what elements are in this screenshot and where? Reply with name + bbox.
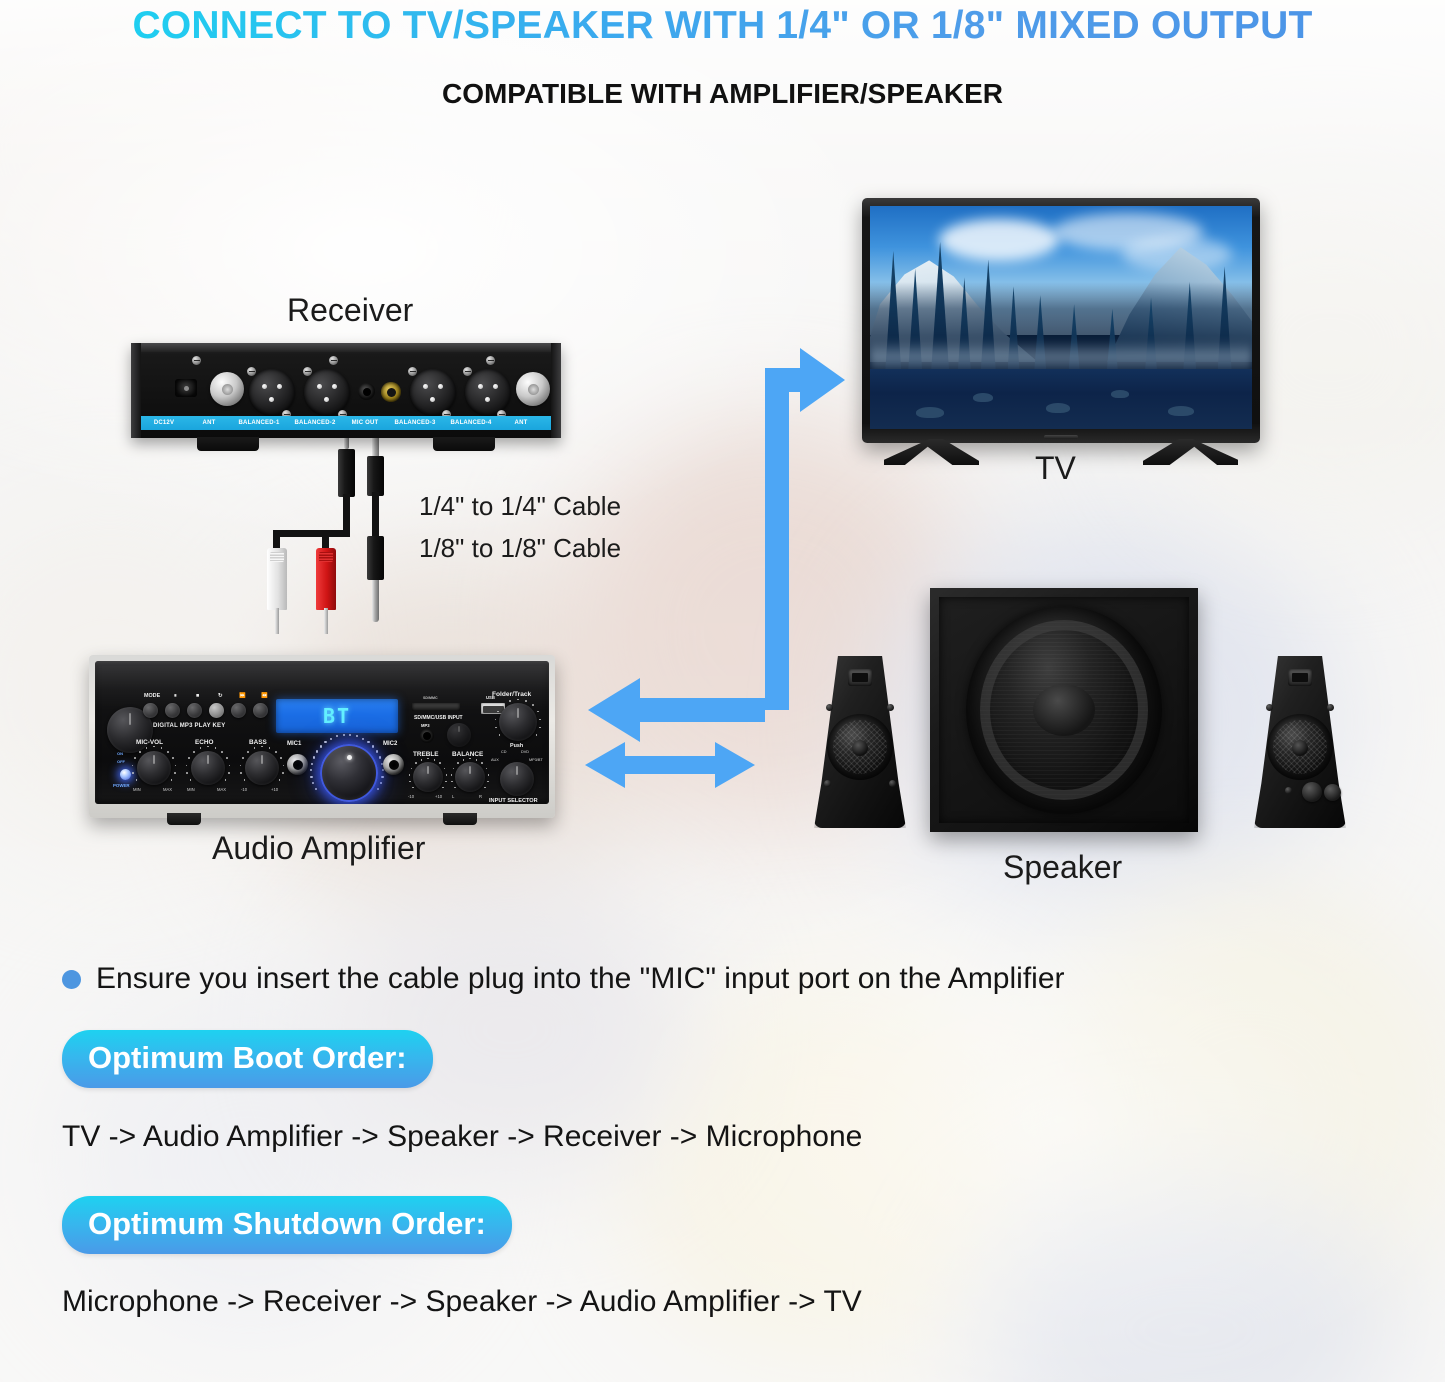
receiver-foot-right bbox=[433, 437, 495, 451]
plug-body-quarter-inch-bottom bbox=[367, 536, 384, 580]
shutdown-order-text: Microphone -> Receiver -> Speaker -> Aud… bbox=[62, 1285, 862, 1319]
receiver-caption: Receiver bbox=[287, 292, 413, 329]
screw-icon bbox=[247, 367, 256, 376]
xlr-balanced-3 bbox=[410, 369, 456, 415]
input-selector-label: INPUT SELECTOR bbox=[489, 798, 538, 804]
port-label-balanced-4: BALANCED-4 bbox=[443, 420, 499, 426]
antenna-connector-right bbox=[516, 372, 550, 406]
satellite-dust-cap bbox=[1292, 740, 1308, 756]
port-label-dc12v: DC12V bbox=[141, 420, 187, 426]
receiver-port-label-strip: DC12V ANT BALANCED-1 BALANCED-2 MIC OUT … bbox=[141, 416, 551, 430]
screw-icon bbox=[463, 367, 472, 376]
tv-caption: TV bbox=[1035, 450, 1076, 487]
audio-amplifier-device: POWER ON OFF MODE ⏸ ■ ↻ ⏩ ⏪ DIGITAL MP3 … bbox=[89, 655, 555, 818]
folder-track-ring bbox=[494, 698, 542, 746]
next-glyph: ⏩ bbox=[239, 693, 246, 699]
repeat-button[interactable] bbox=[209, 703, 224, 718]
bass-control-knob[interactable] bbox=[1324, 784, 1341, 801]
digital-mp3-play-key-label: DIGITAL MP3 PLAY KEY bbox=[153, 723, 225, 729]
satellite-speaker-left bbox=[814, 656, 906, 828]
mode-button[interactable] bbox=[143, 703, 158, 718]
sd-card-slot[interactable] bbox=[412, 703, 460, 711]
treble-ticks bbox=[408, 757, 448, 797]
receiver-left-bevel bbox=[131, 343, 141, 438]
woofer-dust-cap bbox=[1033, 684, 1095, 736]
xlr-balanced-4 bbox=[465, 369, 511, 415]
speaker-caption: Speaker bbox=[1003, 849, 1122, 886]
stop-glyph: ■ bbox=[196, 693, 199, 699]
echo-max: MAX bbox=[217, 787, 226, 792]
balance-min: L bbox=[452, 794, 454, 799]
plug-body-3p5mm bbox=[338, 449, 355, 497]
screw-icon bbox=[329, 356, 338, 365]
antenna-connector-left bbox=[210, 372, 244, 406]
mic1-input-jack[interactable] bbox=[287, 754, 308, 775]
treble-max: +10 bbox=[435, 794, 442, 799]
bass-ticks bbox=[239, 745, 285, 791]
tv-rock bbox=[916, 407, 944, 418]
screw-icon bbox=[408, 367, 417, 376]
amplifier-foot-right bbox=[443, 813, 477, 825]
stop-button[interactable] bbox=[187, 703, 202, 718]
receiver-device: DC12V ANT BALANCED-1 BALANCED-2 MIC OUT … bbox=[131, 343, 561, 438]
treble-min: -10 bbox=[408, 794, 414, 799]
balance-ticks bbox=[450, 757, 490, 797]
plug-body-quarter-inch-top bbox=[367, 456, 384, 496]
port-label-balanced-3: BALANCED-3 bbox=[387, 420, 443, 426]
xlr-balanced-1 bbox=[249, 369, 295, 415]
dc-power-jack bbox=[175, 379, 197, 397]
tv-brand-logo bbox=[1044, 435, 1078, 439]
cable-label-eighth-inch: 1/8" to 1/8" Cable bbox=[419, 533, 621, 564]
mic-out-jack bbox=[381, 382, 401, 402]
off-indicator: OFF bbox=[117, 759, 125, 764]
volume-control-knob[interactable] bbox=[1302, 782, 1322, 802]
boot-order-badge: Optimum Boot Order: bbox=[62, 1030, 433, 1088]
page-subtitle: COMPATIBLE WITH AMPLIFIER/SPEAKER bbox=[0, 78, 1445, 110]
repeat-glyph: ↻ bbox=[218, 693, 223, 699]
mic-vol-max: MAX bbox=[163, 787, 172, 792]
prev-track-button[interactable] bbox=[253, 703, 268, 718]
selector-option-aux: AUX bbox=[491, 758, 499, 762]
boot-order-text: TV -> Audio Amplifier -> Speaker -> Rece… bbox=[62, 1120, 862, 1154]
tv-cloud bbox=[939, 219, 1059, 261]
standby-indicator: ON bbox=[117, 751, 123, 756]
push-label: Push bbox=[510, 743, 523, 749]
prev-glyph: ⏪ bbox=[261, 693, 268, 699]
bass-max: +10 bbox=[271, 787, 278, 792]
screw-icon bbox=[889, 780, 896, 787]
volume-min: MIN bbox=[309, 803, 317, 804]
bullet-dot-icon bbox=[62, 970, 81, 989]
amplifier-lcd-display: BT bbox=[276, 699, 398, 733]
next-track-button[interactable] bbox=[231, 703, 246, 718]
folder-track-label: Folder/Track bbox=[492, 691, 531, 698]
tv-water bbox=[870, 369, 1252, 429]
power-led-icon bbox=[120, 769, 131, 780]
cable-assembly bbox=[255, 430, 415, 645]
screw-icon bbox=[1266, 704, 1273, 711]
tv-rock bbox=[973, 393, 993, 402]
screw-icon bbox=[486, 356, 495, 365]
rca-plug-white bbox=[267, 548, 287, 610]
page-title: CONNECT TO TV/SPEAKER WITH 1/4" OR 1/8" … bbox=[0, 4, 1445, 48]
volume-knob[interactable] bbox=[320, 744, 378, 802]
rca-pin-white bbox=[275, 608, 278, 634]
port-label-ant-right: ANT bbox=[499, 420, 543, 426]
echo-min: MIN bbox=[187, 787, 195, 792]
mic-input-note: Ensure you insert the cable plug into th… bbox=[62, 962, 1065, 996]
receiver-top-edge bbox=[131, 343, 561, 352]
aux-secondary-knob[interactable] bbox=[447, 723, 471, 747]
mic-input-note-text: Ensure you insert the cable plug into th… bbox=[96, 962, 1065, 996]
mic-out-jack-small bbox=[358, 383, 375, 400]
satellite-speaker-right bbox=[1254, 656, 1346, 828]
power-label: POWER bbox=[113, 783, 130, 788]
bass-min: -10 bbox=[241, 787, 247, 792]
screw-icon bbox=[824, 780, 831, 787]
mic2-label: MIC2 bbox=[383, 741, 397, 747]
play-pause-button[interactable] bbox=[165, 703, 180, 718]
input-selector-knob[interactable] bbox=[500, 762, 534, 796]
mic-vol-min: MIN bbox=[133, 787, 141, 792]
rca-pin-red bbox=[324, 608, 327, 634]
port-label-ant-left: ANT bbox=[187, 420, 231, 426]
mic2-input-jack[interactable] bbox=[383, 754, 404, 775]
port-label-balanced-2: BALANCED-2 bbox=[287, 420, 343, 426]
power-led-icon bbox=[1285, 787, 1292, 794]
satellite-dust-cap bbox=[852, 740, 868, 756]
tv-rock bbox=[1046, 403, 1070, 413]
plug-tip-quarter-inch-bottom bbox=[372, 580, 379, 622]
mp3-aux-jack[interactable] bbox=[420, 729, 434, 743]
selector-option-cd: CD bbox=[501, 750, 506, 754]
mp3-label: MP3 bbox=[421, 723, 430, 728]
receiver-foot-left bbox=[197, 437, 259, 451]
cable-label-quarter-inch: 1/4" to 1/4" Cable bbox=[419, 491, 621, 522]
receiver-right-bevel bbox=[551, 343, 561, 438]
xlr-balanced-2 bbox=[304, 369, 350, 415]
mic-vol-ticks bbox=[131, 745, 177, 791]
speaker-brand-badge bbox=[848, 669, 872, 686]
amplifier-front-panel: POWER ON OFF MODE ⏸ ■ ↻ ⏩ ⏪ DIGITAL MP3 … bbox=[95, 661, 549, 804]
balance-max: R bbox=[479, 794, 482, 799]
screw-icon bbox=[303, 367, 312, 376]
port-label-balanced-1: BALANCED-1 bbox=[231, 420, 287, 426]
mic1-label: MIC1 bbox=[287, 741, 301, 747]
volume-max: MAX bbox=[368, 803, 378, 804]
amplifier-caption: Audio Amplifier bbox=[212, 830, 425, 867]
tv-device bbox=[862, 198, 1260, 443]
speaker-system bbox=[800, 588, 1360, 836]
selector-option-mp3: MP3/BT bbox=[529, 758, 543, 762]
screw-icon bbox=[192, 356, 201, 365]
speaker-brand-badge bbox=[1288, 669, 1312, 686]
play-pause-glyph: ⏸ bbox=[174, 693, 177, 700]
subwoofer bbox=[930, 588, 1198, 832]
lcd-value: BT bbox=[323, 704, 351, 728]
port-label-mic-out: MIC OUT bbox=[343, 420, 387, 426]
sd-mmc-label: SD/MMC bbox=[423, 696, 438, 700]
amplifier-foot-left bbox=[167, 813, 201, 825]
tv-rock bbox=[1168, 406, 1194, 416]
cable-wire-horizontal bbox=[273, 530, 350, 537]
mode-label: MODE bbox=[144, 693, 160, 699]
rca-plug-red bbox=[316, 548, 336, 610]
screw-icon bbox=[887, 704, 894, 711]
shutdown-order-badge: Optimum Shutdown Order: bbox=[62, 1196, 512, 1254]
tv-rock bbox=[1111, 390, 1129, 398]
screw-icon bbox=[1327, 704, 1334, 711]
tv-screen bbox=[870, 206, 1252, 429]
cable-wire-quarter-inch bbox=[372, 492, 379, 538]
screw-icon bbox=[826, 704, 833, 711]
selector-option-dvd: DVD bbox=[521, 750, 529, 754]
echo-ticks bbox=[185, 745, 231, 791]
card-input-label: SD/MMC/USB INPUT bbox=[414, 715, 463, 721]
